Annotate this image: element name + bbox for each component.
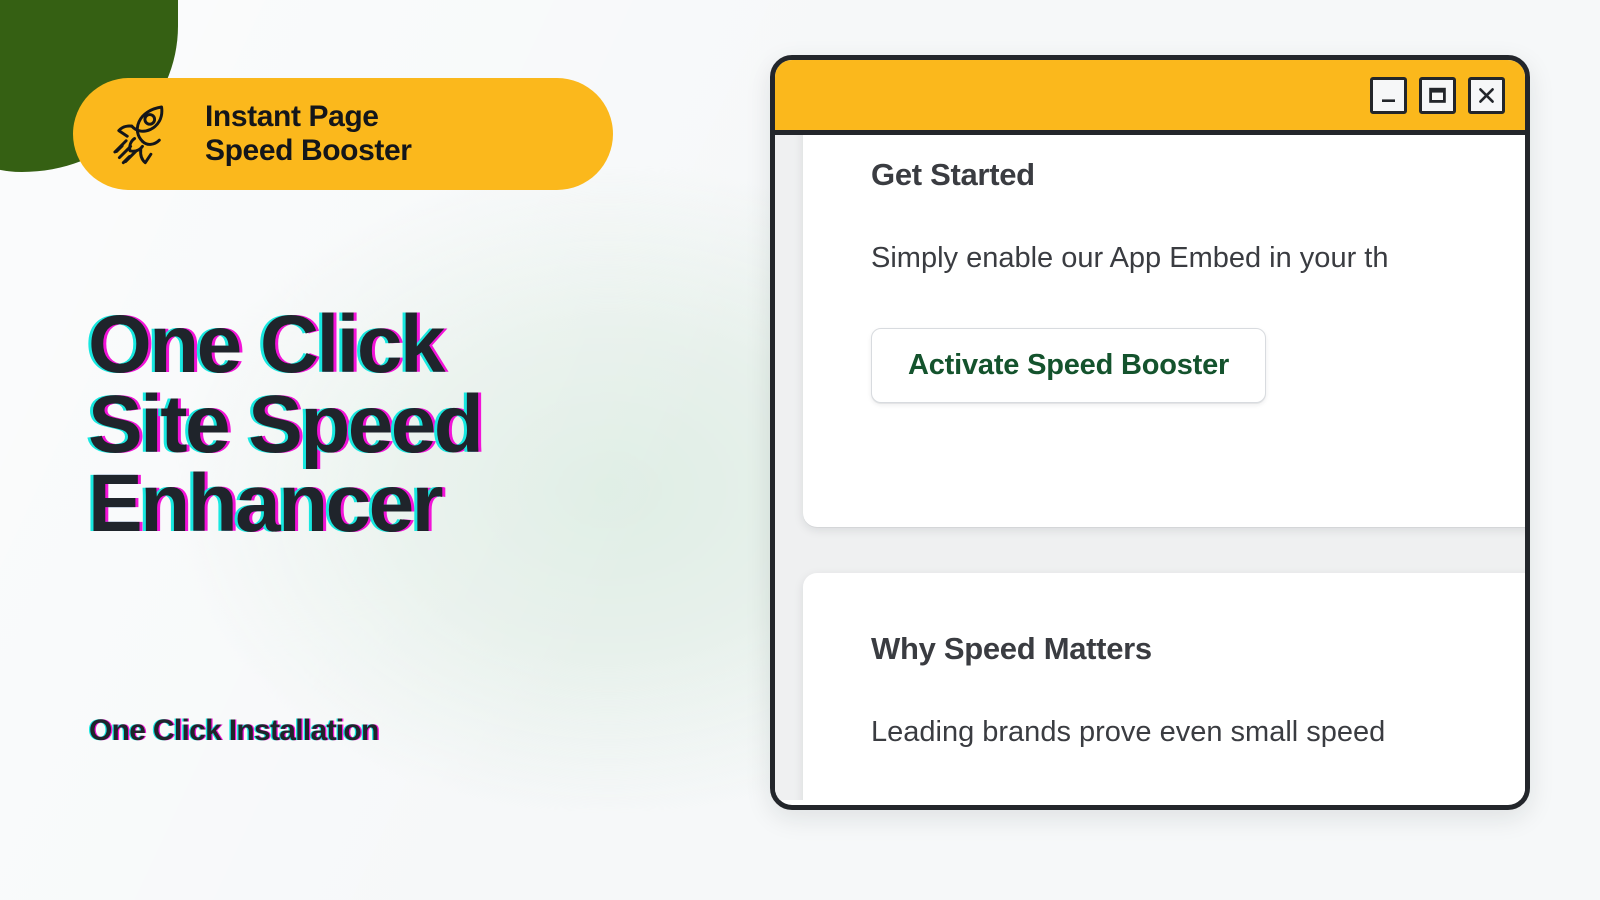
- card-why-speed-matters-title: Why Speed Matters: [871, 631, 1525, 667]
- card-get-started-body: Simply enable our App Embed in your th: [871, 237, 1525, 280]
- window-content: Get Started Simply enable our App Embed …: [775, 135, 1525, 800]
- brand-pill: Instant Page Speed Booster: [73, 78, 613, 190]
- minimize-icon: [1379, 86, 1398, 105]
- close-button[interactable]: [1468, 77, 1505, 114]
- card-get-started: Get Started Simply enable our App Embed …: [803, 135, 1525, 527]
- maximize-icon: [1428, 86, 1447, 105]
- content-left-gutter: [775, 135, 803, 800]
- hero-subheadline: One Click Installation: [89, 714, 379, 748]
- minimize-button[interactable]: [1370, 77, 1407, 114]
- app-window: Get Started Simply enable our App Embed …: [770, 55, 1530, 810]
- brand-label: Instant Page Speed Booster: [205, 100, 412, 167]
- card-get-started-title: Get Started: [871, 157, 1525, 193]
- card-why-speed-matters-body: Leading brands prove even small speed: [871, 711, 1525, 754]
- page-title: One Click Site Speed Enhancer: [88, 305, 481, 544]
- close-icon: [1477, 86, 1496, 105]
- window-title-bar[interactable]: [775, 60, 1525, 135]
- page-root: Instant Page Speed Booster One Click Sit…: [0, 0, 1600, 900]
- card-why-speed-matters: Why Speed Matters Leading brands prove e…: [803, 573, 1525, 800]
- maximize-button[interactable]: [1419, 77, 1456, 114]
- rocket-icon: [107, 98, 179, 170]
- activate-speed-booster-button[interactable]: Activate Speed Booster: [871, 328, 1266, 403]
